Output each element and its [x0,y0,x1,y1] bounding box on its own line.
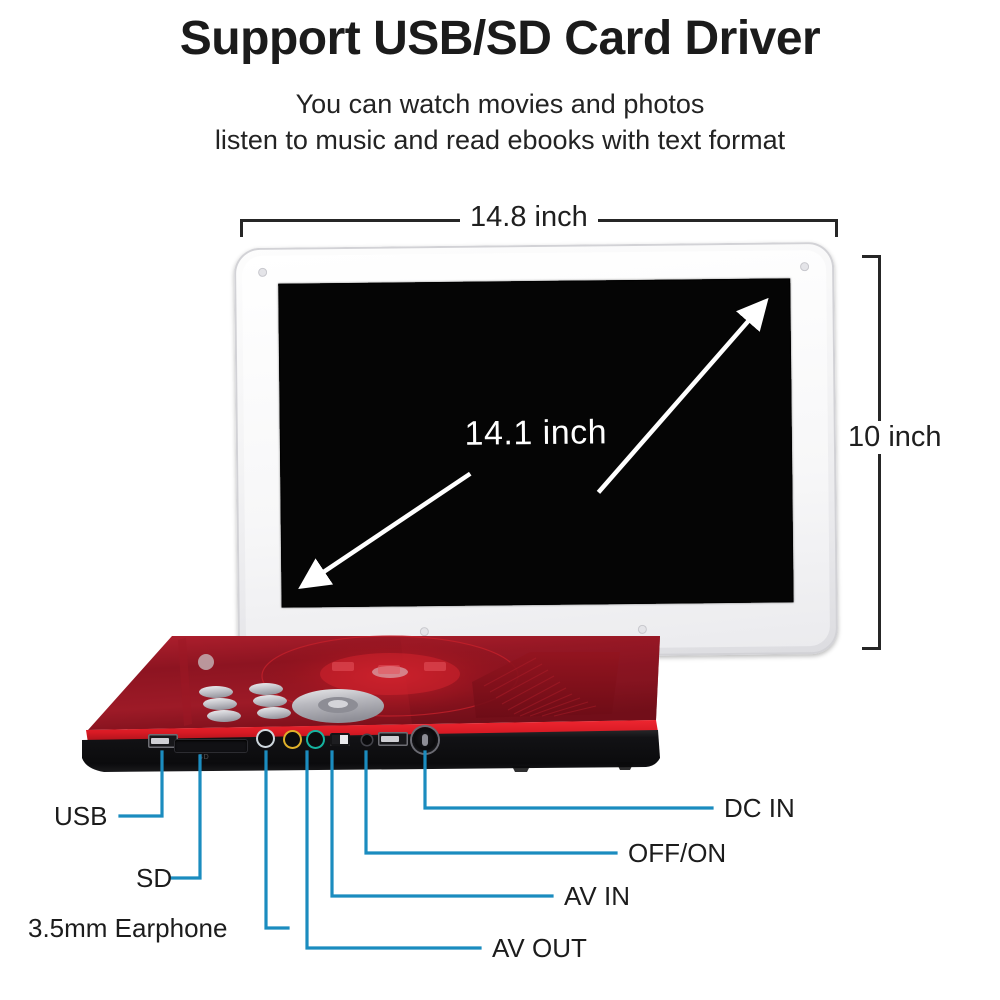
dvd-player-base: SD [60,612,680,772]
earphone-jack [258,731,273,746]
infographic-canvas: Support USB/SD Card Driver You can watch… [0,0,1000,1000]
callout-label-av-out: AV OUT [492,933,587,964]
reset-dot [362,735,372,745]
lcd-screen: 14.1 inch [278,278,793,607]
callout-label-earphone: 3.5mm Earphone [28,913,227,944]
screen-lid: 14.1 inch [234,242,838,660]
height-dimension-tick-bottom [862,647,881,650]
leader-line-av-in [332,752,552,896]
lid-screw-dot-left [258,268,267,277]
player-body-graphic [60,612,680,772]
callout-label-av-in: AV IN [564,881,630,912]
leader-line-sd [172,756,200,878]
av-in-jack [308,732,323,747]
height-dimension-tick-top [862,255,881,258]
callout-label-off-on: OFF/ON [628,838,726,869]
page-title: Support USB/SD Card Driver [0,14,1000,64]
dc-in-jack [412,727,438,753]
sd-card-slot [175,740,247,752]
subtitle-line-1: You can watch movies and photos [0,88,1000,121]
leader-line-earphone [266,752,288,928]
callout-label-dc-in: DC IN [724,793,795,824]
callout-label-sd: SD [136,863,172,894]
width-dimension-tick-left [240,219,243,237]
leader-line-av-out [307,752,480,948]
height-dimension-label: 10 inch [838,421,952,454]
width-dimension-tick-right [835,219,838,237]
sd-slot-text: SD [198,754,210,761]
screen-diagonal-label: 14.1 inch [280,411,792,455]
lid-screw-dot-right [800,262,809,271]
width-dimension-label: 14.8 inch [460,201,598,234]
av-out-jack [285,732,300,747]
usb-port-2 [378,732,408,746]
subtitle-line-2: listen to music and read ebooks with tex… [0,124,1000,157]
callout-label-usb: USB [54,801,107,832]
usb-port [148,734,178,748]
power-switch[interactable] [330,733,350,746]
